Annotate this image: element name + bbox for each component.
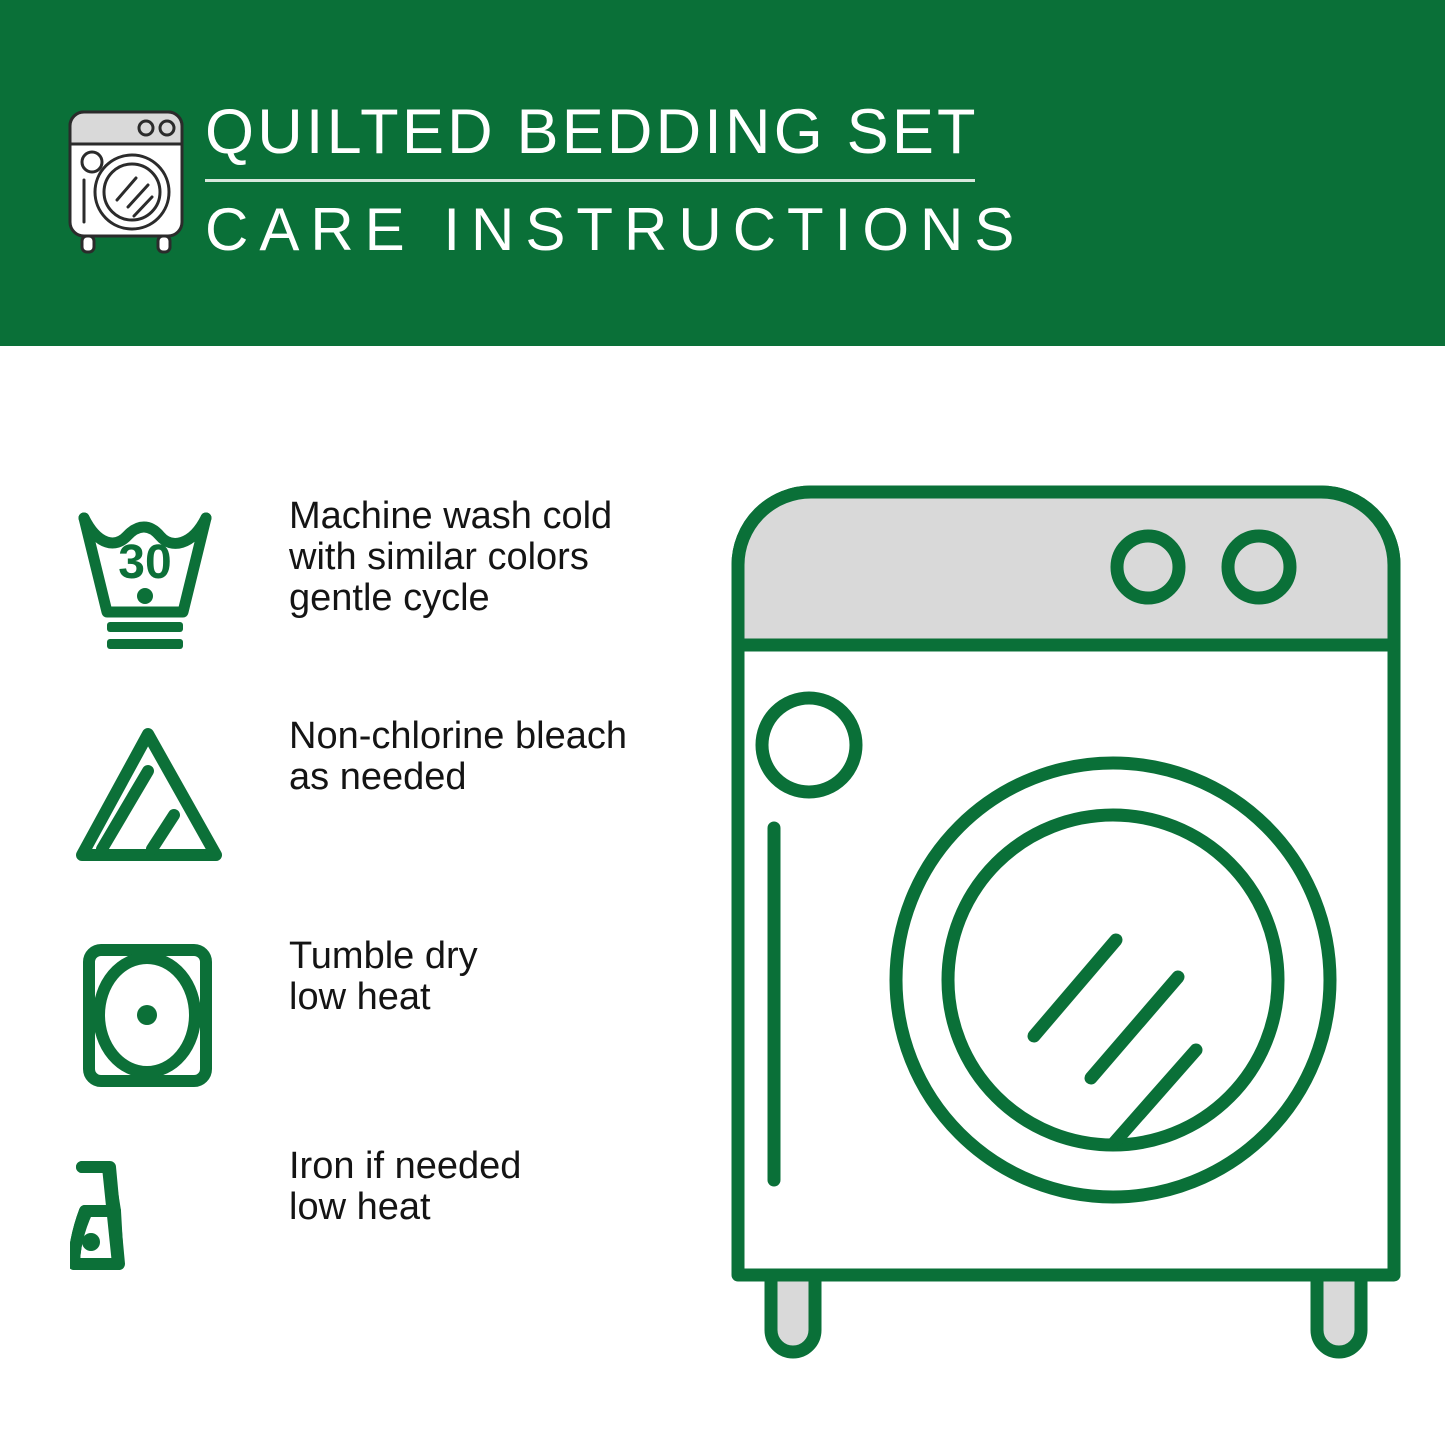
care-text-tumble-dry: Tumble dry low heat: [289, 936, 689, 1018]
wash-tub-30-icon: 30: [70, 496, 240, 666]
care-line: gentle cycle: [289, 578, 689, 619]
leg-left: [771, 1275, 815, 1352]
iron-low-heat-icon: [70, 1146, 240, 1316]
care-row-machine-wash: 30 Machine wash cold with similar colors…: [0, 496, 700, 666]
non-chlorine-bleach-triangle-icon: [70, 716, 240, 886]
page-subtitle: CARE INSTRUCTIONS: [205, 196, 995, 264]
washing-machine-icon: [62, 104, 190, 256]
header-banner: QUILTED BEDDING SET CARE INSTRUCTIONS: [0, 0, 1445, 346]
header-divider: [205, 179, 975, 182]
care-line: Tumble dry: [289, 936, 689, 977]
care-line: as needed: [289, 757, 689, 798]
care-line: low heat: [289, 1187, 689, 1228]
front-load-washing-machine-illustration: [716, 470, 1416, 1370]
care-text-iron: Iron if needed low heat: [289, 1146, 689, 1228]
care-line: Machine wash cold: [289, 496, 689, 537]
tumble-dry-low-icon: [70, 936, 240, 1106]
care-line: low heat: [289, 977, 689, 1018]
wash-temperature-label: 30: [118, 536, 171, 589]
care-line: with similar colors: [289, 537, 689, 578]
header-text-block: QUILTED BEDDING SET CARE INSTRUCTIONS: [205, 96, 995, 264]
care-line: Non-chlorine bleach: [289, 716, 689, 757]
care-row-iron: Iron if needed low heat: [0, 1146, 700, 1316]
care-instructions-infographic: QUILTED BEDDING SET CARE INSTRUCTIONS 30: [0, 0, 1445, 1445]
care-text-bleach: Non-chlorine bleach as needed: [289, 716, 689, 798]
page-title: QUILTED BEDDING SET: [205, 96, 995, 168]
care-row-bleach: Non-chlorine bleach as needed: [0, 716, 700, 886]
care-text-machine-wash: Machine wash cold with similar colors ge…: [289, 496, 689, 619]
care-row-tumble-dry: Tumble dry low heat: [0, 936, 700, 1106]
leg-right: [1317, 1275, 1361, 1352]
care-line: Iron if needed: [289, 1146, 689, 1187]
